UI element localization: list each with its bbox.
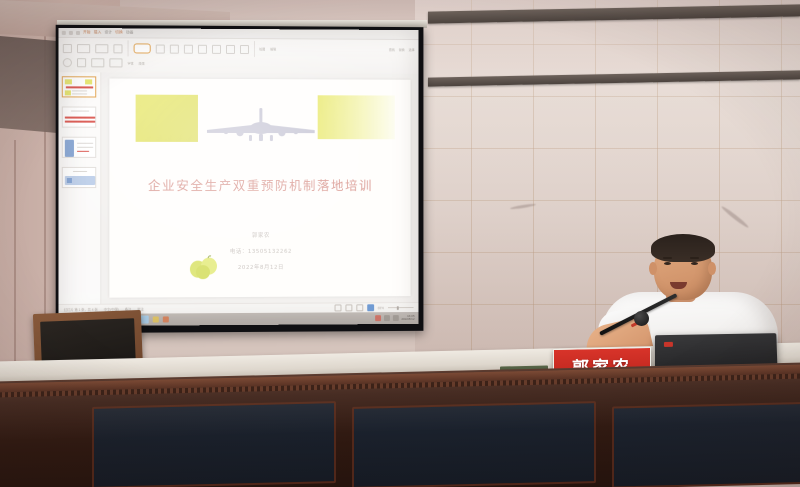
desk-panel-center bbox=[352, 401, 596, 487]
ribbon-replace-label[interactable]: 替换 bbox=[399, 48, 405, 52]
ribbon-group-editing: 编辑 bbox=[270, 47, 276, 51]
normal-view-icon[interactable] bbox=[334, 304, 341, 311]
ribbon-group-font: 字体 bbox=[128, 61, 134, 65]
tray-network-icon[interactable] bbox=[384, 315, 390, 321]
slide-thumbnail-1[interactable]: 1 bbox=[62, 76, 96, 97]
slide-date: 2022年8月12日 bbox=[109, 262, 410, 271]
numbering-icon[interactable] bbox=[240, 44, 249, 53]
clock-date: 2022/8/12 bbox=[401, 318, 414, 321]
fruit-image bbox=[188, 255, 218, 279]
bold-icon[interactable] bbox=[169, 44, 178, 53]
speaker-eye-left bbox=[664, 262, 671, 265]
speaker-brow-left bbox=[663, 257, 672, 259]
slide-thumbnail-2[interactable]: 2 bbox=[62, 106, 96, 127]
ribbon-group-paragraph: 段落 bbox=[139, 61, 145, 65]
ribbon-select-label[interactable]: 选择 bbox=[409, 48, 415, 52]
slide-thumbnail-4[interactable]: 4 bbox=[62, 167, 96, 188]
speaker-ear-left bbox=[649, 262, 657, 275]
ppt-workspace: 1 2 3 bbox=[59, 72, 419, 304]
taskbar-app-browser[interactable] bbox=[163, 316, 169, 322]
zoom-slider[interactable] bbox=[388, 307, 414, 308]
slide-phone: 电话：13505132262 bbox=[109, 246, 410, 255]
zoom-level-label: 65% bbox=[378, 306, 384, 310]
save-icon[interactable] bbox=[69, 30, 73, 34]
system-tray: 16:05 2022/8/12 bbox=[375, 315, 415, 321]
ribbon-find-label[interactable]: 查找 bbox=[389, 48, 395, 52]
arrange-icon[interactable] bbox=[77, 58, 86, 67]
desk-panel-right bbox=[612, 401, 800, 487]
shape-highlight-icon[interactable] bbox=[133, 43, 150, 53]
new-slide-icon[interactable] bbox=[77, 44, 90, 53]
wall-seam-vertical-2 bbox=[14, 140, 16, 364]
photo-scene: 开始 插入 设计 切换 动画 绘图 bbox=[0, 0, 800, 487]
zoom-slider-knob[interactable] bbox=[397, 306, 399, 310]
ribbon-group-drawing: 绘图 bbox=[259, 47, 265, 51]
projector-screen: 开始 插入 设计 切换 动画 绘图 bbox=[59, 28, 419, 326]
slide-image-right bbox=[318, 95, 395, 139]
sorter-view-icon[interactable] bbox=[345, 304, 352, 311]
ribbon-tab-design[interactable]: 设计 bbox=[105, 30, 113, 35]
ribbon-divider-2 bbox=[254, 41, 255, 57]
slide-image-left bbox=[136, 95, 198, 142]
current-slide[interactable]: 企业安全生产双重预防机制落地培训 郭家农 电话：13505132262 2022… bbox=[109, 78, 410, 297]
ribbon-tab-animation[interactable]: 动画 bbox=[126, 30, 134, 35]
taskbar-clock[interactable]: 16:05 2022/8/12 bbox=[401, 315, 414, 321]
underline-icon[interactable] bbox=[198, 44, 207, 53]
slide-presenter-name: 郭家农 bbox=[109, 231, 410, 240]
ribbon-tab-start[interactable]: 开始 bbox=[83, 30, 91, 35]
tray-notification-icon[interactable] bbox=[375, 315, 381, 321]
slide-thumbnail-pane[interactable]: 1 2 3 bbox=[59, 72, 102, 304]
textbox-icon[interactable] bbox=[155, 44, 164, 53]
ribbon-divider-1 bbox=[128, 40, 129, 56]
speaker-hair bbox=[651, 234, 715, 262]
italic-icon[interactable] bbox=[183, 44, 192, 53]
reading-view-icon[interactable] bbox=[356, 304, 363, 311]
align-icon[interactable] bbox=[212, 44, 221, 53]
ribbon-tab-insert[interactable]: 插入 bbox=[94, 30, 102, 35]
paste-icon[interactable] bbox=[63, 43, 72, 52]
quickstyles-icon[interactable] bbox=[91, 58, 104, 67]
bullets-icon[interactable] bbox=[226, 44, 235, 53]
status-view-controls: 65% bbox=[334, 304, 413, 311]
slide-title: 企业安全生产双重预防机制落地培训 bbox=[109, 175, 410, 194]
shapes-icon[interactable] bbox=[63, 58, 72, 67]
quick-access-icon[interactable] bbox=[62, 30, 66, 34]
slide-canvas[interactable]: 企业安全生产双重预防机制落地培训 郭家农 电话：13505132262 2022… bbox=[101, 72, 418, 303]
undo-icon[interactable] bbox=[76, 30, 80, 34]
airplane-icon bbox=[201, 107, 321, 145]
taskbar-app-powerpoint[interactable] bbox=[153, 316, 159, 322]
speaker-ear-right bbox=[708, 262, 716, 275]
microphone-head bbox=[634, 311, 649, 326]
shapefill-icon[interactable] bbox=[109, 58, 122, 67]
slideshow-view-icon[interactable] bbox=[367, 304, 374, 311]
desk-panel-left bbox=[92, 401, 336, 487]
speaker-brow-right bbox=[690, 257, 699, 259]
speaker-eye-right bbox=[691, 262, 698, 265]
ppt-ribbon: 绘图 编辑 查找 替换 选择 字体 段落 bbox=[59, 38, 419, 75]
layout-icon[interactable] bbox=[95, 44, 108, 53]
ribbon-tab-transition[interactable]: 切换 bbox=[115, 30, 123, 35]
laptop-brand-logo-icon bbox=[664, 342, 673, 347]
tray-volume-icon[interactable] bbox=[393, 315, 399, 321]
reset-icon[interactable] bbox=[113, 44, 122, 53]
slide-thumbnail-3[interactable]: 3 bbox=[62, 137, 96, 158]
